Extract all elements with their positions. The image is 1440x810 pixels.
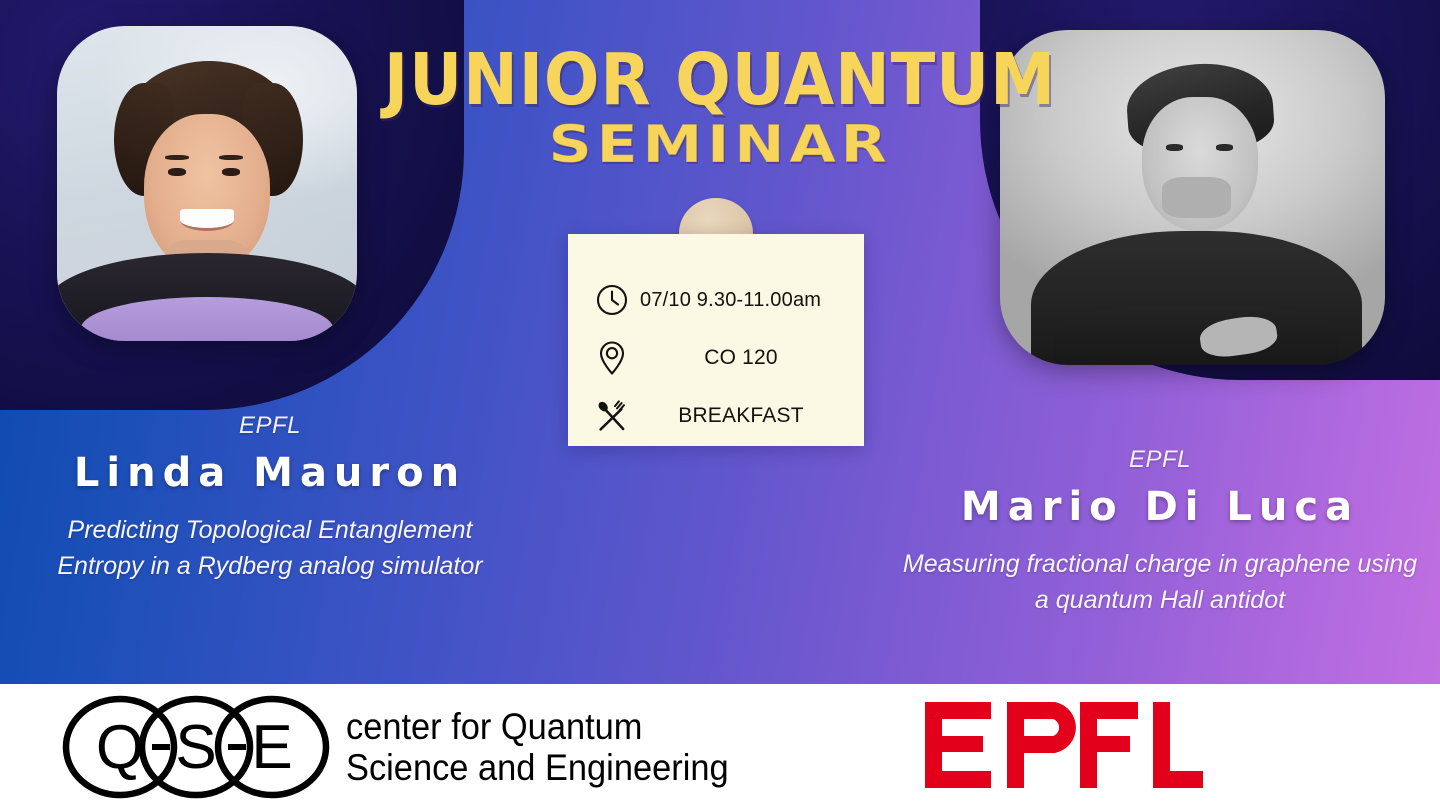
portrait-artwork-mario bbox=[1000, 30, 1385, 365]
svg-text:E: E bbox=[251, 713, 292, 782]
location-pin-icon bbox=[590, 338, 634, 378]
info-row-catering: BREAKFAST bbox=[568, 396, 864, 436]
speaker-block-right: EPFL Mario Di Luca Measuring fractional … bbox=[900, 446, 1420, 618]
svg-text:Q: Q bbox=[96, 713, 144, 782]
qse-wordmark-line-2: Science and Engineering bbox=[346, 747, 729, 788]
qse-logo: Q S E center for Quantum Science and Eng… bbox=[62, 695, 757, 799]
speaker-affiliation-right: EPFL bbox=[900, 446, 1420, 474]
seminar-poster: JUNIOR QUANTUM SEMINAR 07/10 9.30-11.00a… bbox=[0, 0, 1440, 810]
speaker-talk-title-right: Measuring fractional charge in graphene … bbox=[900, 546, 1420, 618]
speaker-photo-mario-di-luca bbox=[1000, 30, 1385, 365]
speaker-block-left: EPFL Linda Mauron Predicting Topological… bbox=[26, 412, 514, 584]
event-info-card: 07/10 9.30-11.00am CO 120 bbox=[568, 234, 864, 446]
gradient-background: JUNIOR QUANTUM SEMINAR 07/10 9.30-11.00a… bbox=[0, 0, 1440, 684]
speaker-affiliation-left: EPFL bbox=[26, 412, 514, 440]
speaker-talk-title-left: Predicting Topological Entanglement Entr… bbox=[26, 512, 514, 584]
qse-logo-wordmark: center for Quantum Science and Engineeri… bbox=[346, 706, 729, 789]
info-row-time: 07/10 9.30-11.00am bbox=[568, 280, 864, 320]
clock-icon bbox=[590, 280, 634, 320]
speaker-name-left: Linda Mauron bbox=[26, 450, 514, 496]
speaker-photo-linda-mauron bbox=[57, 26, 357, 341]
qse-wordmark-line-1: center for Quantum bbox=[346, 706, 729, 747]
epfl-logo bbox=[925, 702, 1203, 793]
footer-logo-band: Q S E center for Quantum Science and Eng… bbox=[0, 684, 1440, 810]
info-location-text: CO 120 bbox=[634, 346, 864, 370]
svg-text:S: S bbox=[175, 713, 216, 782]
portrait-artwork-linda bbox=[57, 26, 357, 341]
qse-logo-mark: Q S E bbox=[62, 695, 330, 799]
info-row-location: CO 120 bbox=[568, 338, 864, 378]
epfl-logo-mark bbox=[925, 702, 1203, 788]
info-catering-text: BREAKFAST bbox=[634, 404, 864, 428]
cutlery-icon bbox=[590, 396, 634, 436]
info-time-text: 07/10 9.30-11.00am bbox=[634, 289, 864, 312]
speaker-name-right: Mario Di Luca bbox=[900, 484, 1420, 530]
